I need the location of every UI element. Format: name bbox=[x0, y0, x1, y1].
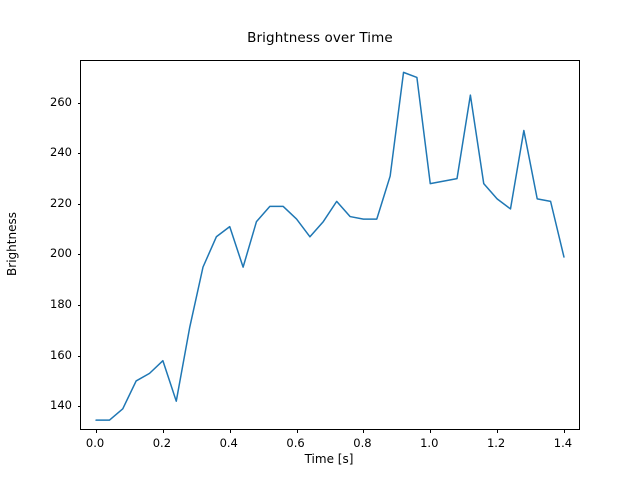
x-tick-mark bbox=[297, 429, 298, 433]
chart-title: Brightness over Time bbox=[0, 30, 640, 46]
x-tick-mark bbox=[430, 429, 431, 433]
y-tick-label: 140 bbox=[0, 398, 72, 412]
x-tick-mark bbox=[96, 429, 97, 433]
x-tick-mark bbox=[564, 429, 565, 433]
chart-figure: Brightness over Time Brightness Time [s]… bbox=[0, 0, 640, 480]
y-tick-mark bbox=[78, 305, 82, 306]
x-tick-mark bbox=[497, 429, 498, 433]
x-tick-mark bbox=[163, 429, 164, 433]
x-tick-label: 0.2 bbox=[153, 436, 171, 450]
y-axis-label: Brightness bbox=[0, 60, 24, 428]
y-axis-label-text: Brightness bbox=[5, 212, 19, 276]
x-tick-label: 0.4 bbox=[220, 436, 238, 450]
y-tick-mark bbox=[78, 356, 82, 357]
y-tick-label: 160 bbox=[0, 348, 72, 362]
y-tick-mark bbox=[78, 204, 82, 205]
brightness-line bbox=[96, 72, 564, 420]
y-tick-label: 200 bbox=[0, 246, 72, 260]
x-tick-mark bbox=[363, 429, 364, 433]
line-series-svg bbox=[81, 61, 579, 429]
x-tick-label: 0.6 bbox=[286, 436, 304, 450]
y-tick-label: 240 bbox=[0, 145, 72, 159]
y-tick-label: 180 bbox=[0, 297, 72, 311]
y-tick-mark bbox=[78, 254, 82, 255]
plot-area bbox=[80, 60, 580, 430]
x-tick-label: 1.2 bbox=[487, 436, 505, 450]
y-tick-mark bbox=[78, 103, 82, 104]
x-axis-label: Time [s] bbox=[80, 452, 578, 466]
y-tick-mark bbox=[78, 153, 82, 154]
x-tick-label: 1.0 bbox=[420, 436, 438, 450]
x-tick-label: 1.4 bbox=[554, 436, 572, 450]
y-tick-label: 220 bbox=[0, 196, 72, 210]
y-tick-label: 260 bbox=[0, 95, 72, 109]
y-tick-mark bbox=[78, 406, 82, 407]
x-tick-label: 0.8 bbox=[353, 436, 371, 450]
x-tick-label: 0.0 bbox=[86, 436, 104, 450]
x-tick-mark bbox=[230, 429, 231, 433]
